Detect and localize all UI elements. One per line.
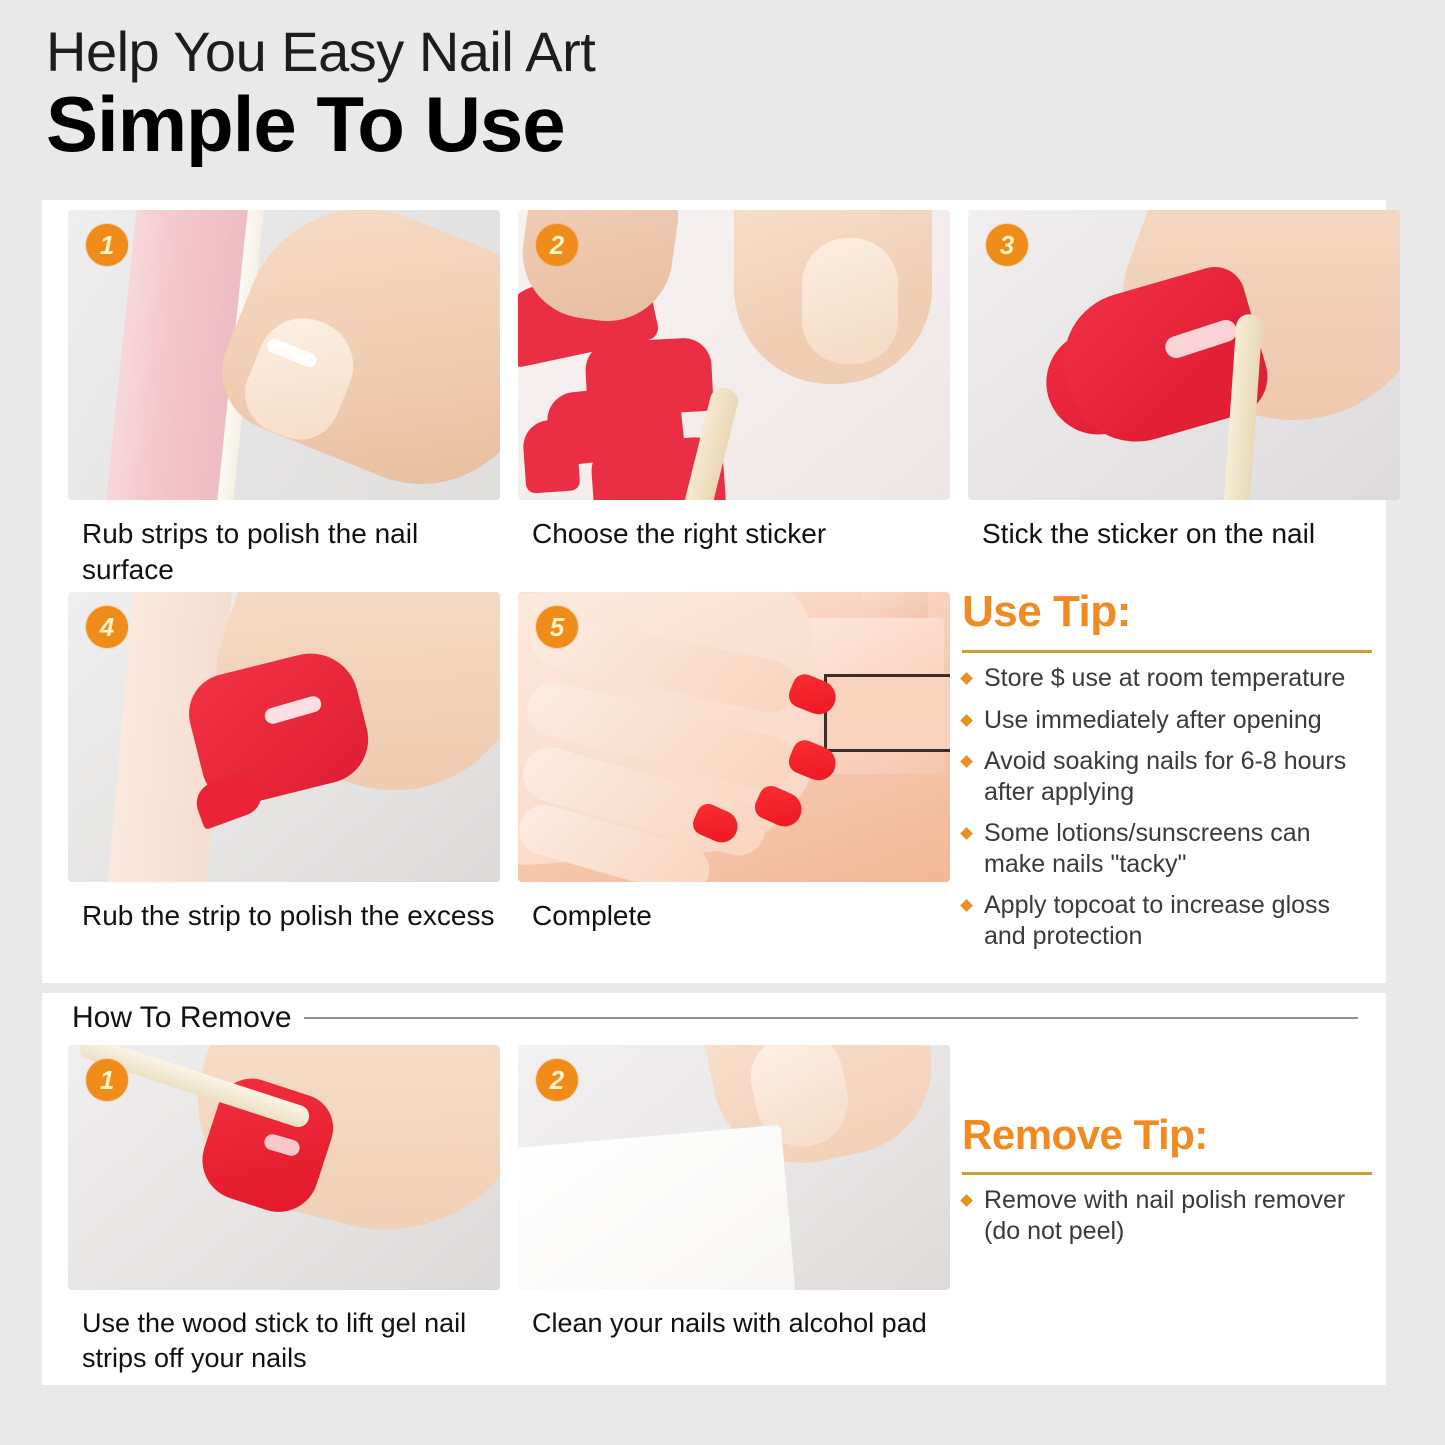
- infographic-page: Help You Easy Nail Art Simple To Use: [0, 0, 1445, 1445]
- bare-nail-shape: [802, 238, 898, 364]
- use-tip-item-text: Use immediately after opening: [984, 706, 1322, 734]
- remove-step-2-photo: 2: [518, 1045, 950, 1290]
- use-tip-item-text: Some lotions/sunscreens can make nails "…: [984, 819, 1311, 878]
- step-number-badge: 1: [86, 224, 128, 266]
- use-tip-item: Apply topcoat to increase gloss and prot…: [962, 890, 1372, 951]
- use-tip-title: Use Tip:: [962, 588, 1372, 636]
- steps-row-top: 1 Rub strips to polish the nail surface: [68, 210, 1364, 592]
- step-item: 2 Choose the right sticker: [518, 210, 950, 592]
- remove-step-item: 1 Use the wood stick to lift gel nail st…: [68, 1045, 500, 1382]
- use-tip-panel: Use Tip: Store $ use at room temperature…: [962, 588, 1372, 962]
- remove-section-label: How To Remove: [72, 1001, 292, 1035]
- step-4-photo: 4: [68, 592, 500, 882]
- red-sticker-shape: [522, 418, 581, 494]
- step-item: 1 Rub strips to polish the nail surface: [68, 210, 500, 592]
- heading-eyebrow: Help You Easy Nail Art: [46, 22, 1046, 82]
- step-number-badge: 2: [536, 224, 578, 266]
- remove-step-1-photo: 1: [68, 1045, 500, 1290]
- step-5-photo: 5: [518, 592, 950, 882]
- use-tip-item-text: Apply topcoat to increase gloss and prot…: [984, 891, 1330, 950]
- diamond-bullet-icon: [960, 756, 973, 769]
- use-tip-item-text: Store $ use at room temperature: [984, 664, 1345, 692]
- use-tip-item: Store $ use at room temperature: [962, 663, 1372, 694]
- step-number-badge: 3: [986, 224, 1028, 266]
- finished-manicure-photo: [518, 592, 950, 882]
- diamond-bullet-icon: [960, 714, 973, 727]
- steps-card: 1 Rub strips to polish the nail surface: [42, 200, 1386, 983]
- step-caption: Choose the right sticker: [518, 500, 950, 592]
- applying-sticker-photo: [968, 210, 1400, 500]
- step-item: 5 Complete: [518, 592, 950, 974]
- step-caption: Stick the sticker on the nail: [968, 500, 1400, 592]
- step-number-badge: 4: [86, 606, 128, 648]
- remove-tip-divider: [962, 1172, 1372, 1175]
- lifting-strip-photo: [68, 1045, 500, 1290]
- buffing-excess-photo: [68, 592, 500, 882]
- page-heading: Help You Easy Nail Art Simple To Use: [46, 22, 1046, 166]
- remove-card: How To Remove 1 Use the wood stick: [42, 993, 1386, 1385]
- use-tip-item: Use immediately after opening: [962, 705, 1372, 736]
- diamond-bullet-icon: [960, 1194, 973, 1207]
- alcohol-pad-photo: [518, 1045, 950, 1290]
- remove-tip-panel: Remove Tip: Remove with nail polish remo…: [962, 1112, 1372, 1257]
- diamond-bullet-icon: [960, 900, 973, 913]
- step-3-photo: 3: [968, 210, 1400, 500]
- step-caption: Rub the strip to polish the excess: [68, 882, 500, 974]
- remove-step-caption: Clean your nails with alcohol pad: [518, 1290, 950, 1382]
- nail-buffer-strip-photo: [68, 210, 500, 500]
- use-tip-item: Avoid soaking nails for 6-8 hours after …: [962, 746, 1372, 807]
- remove-tip-list: Remove with nail polish remover (do not …: [962, 1185, 1372, 1246]
- step-item: 3 Stick the sticker on the nail: [968, 210, 1400, 592]
- remove-section-header: How To Remove: [72, 1001, 1358, 1035]
- use-tip-list: Store $ use at room temperature Use imme…: [962, 663, 1372, 951]
- remove-step-item: 2 Clean your nails with alcohol pad: [518, 1045, 950, 1382]
- use-tip-item-text: Avoid soaking nails for 6-8 hours after …: [984, 747, 1346, 806]
- remove-step-number-badge: 1: [86, 1059, 128, 1101]
- step-caption: Complete: [518, 882, 950, 974]
- sticker-sheet-photo: [518, 210, 950, 500]
- remove-tip-title: Remove Tip:: [962, 1112, 1372, 1158]
- step-1-photo: 1: [68, 210, 500, 500]
- use-tip-divider: [962, 650, 1372, 653]
- alcohol-pad-shape: [518, 1125, 798, 1290]
- diamond-bullet-icon: [960, 828, 973, 841]
- page-title: Simple To Use: [46, 84, 1046, 166]
- header-divider: [304, 1017, 1358, 1019]
- step-item: 4 Rub the strip to polish the excess: [68, 592, 500, 974]
- bottle-label-shape: [824, 674, 950, 752]
- diamond-bullet-icon: [960, 673, 973, 686]
- step-2-photo: 2: [518, 210, 950, 500]
- remove-step-caption: Use the wood stick to lift gel nail stri…: [68, 1290, 500, 1382]
- remove-tip-item: Remove with nail polish remover (do not …: [962, 1185, 1372, 1246]
- use-tip-item: Some lotions/sunscreens can make nails "…: [962, 818, 1372, 879]
- remove-step-number-badge: 2: [536, 1059, 578, 1101]
- step-caption: Rub strips to polish the nail surface: [68, 500, 500, 592]
- remove-tip-item-text: Remove with nail polish remover (do not …: [984, 1186, 1345, 1245]
- step-number-badge: 5: [536, 606, 578, 648]
